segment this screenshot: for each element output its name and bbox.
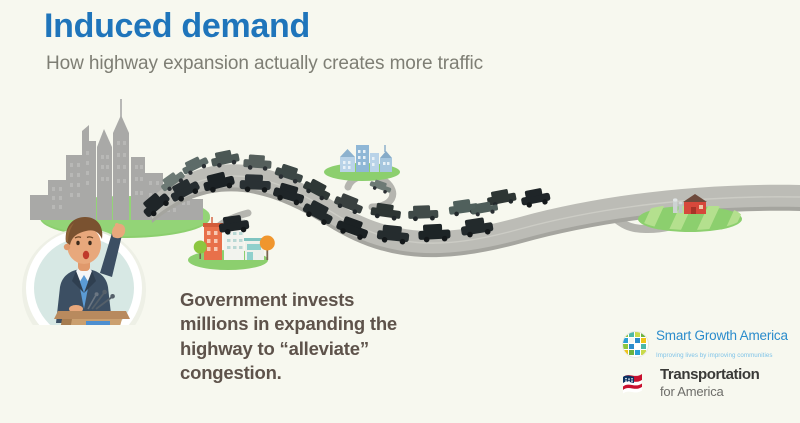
page-title: Induced demand bbox=[44, 8, 310, 45]
destination-suburban-campus bbox=[324, 145, 400, 181]
t4a-name: Transportation bbox=[660, 366, 759, 383]
sga-name: Smart Growth America bbox=[656, 328, 788, 343]
podium-seal bbox=[86, 321, 110, 325]
usa-flag-icon bbox=[622, 371, 653, 397]
caption-text: Government invests millions in expanding… bbox=[180, 288, 410, 386]
car bbox=[520, 187, 552, 209]
sga-tagline: Improving lives by improving communities bbox=[656, 352, 773, 359]
car bbox=[408, 205, 439, 221]
car bbox=[486, 187, 517, 208]
mosaic-circle-icon bbox=[622, 331, 649, 358]
logo-transportation-for-america[interactable]: Transportation for America bbox=[622, 367, 782, 401]
podium-top bbox=[54, 311, 130, 319]
infographic-canvas: Induced demand How highway expansion act… bbox=[0, 0, 800, 423]
page-subtitle: How highway expansion actually creates m… bbox=[46, 53, 483, 75]
t4a-subname: for America bbox=[660, 384, 724, 399]
logo-smart-growth-america[interactable]: Smart Growth America Improving lives by … bbox=[622, 328, 782, 362]
logo-block: Smart Growth America Improving lives by … bbox=[622, 328, 782, 407]
